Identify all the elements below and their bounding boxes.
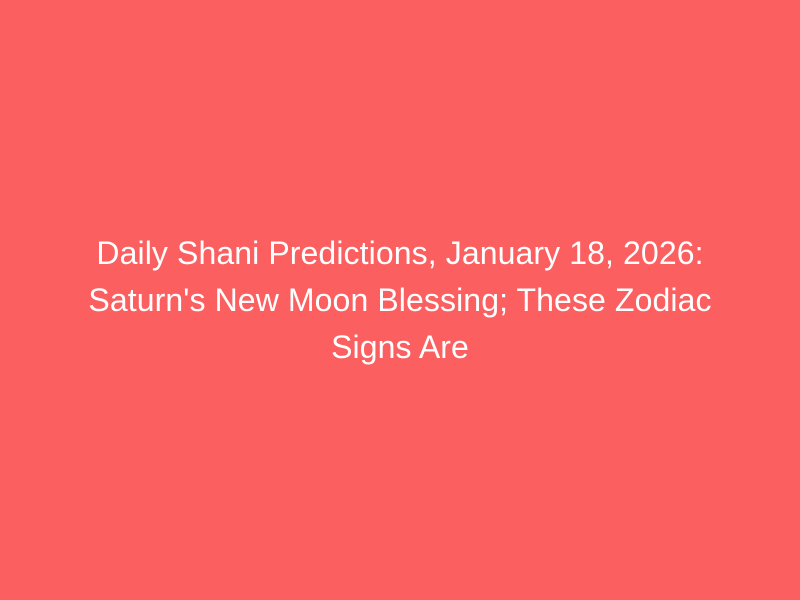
headline-card: Daily Shani Predictions, January 18, 202… [0, 0, 800, 600]
page-title: Daily Shani Predictions, January 18, 202… [68, 230, 732, 371]
headline-block: Daily Shani Predictions, January 18, 202… [68, 230, 732, 371]
